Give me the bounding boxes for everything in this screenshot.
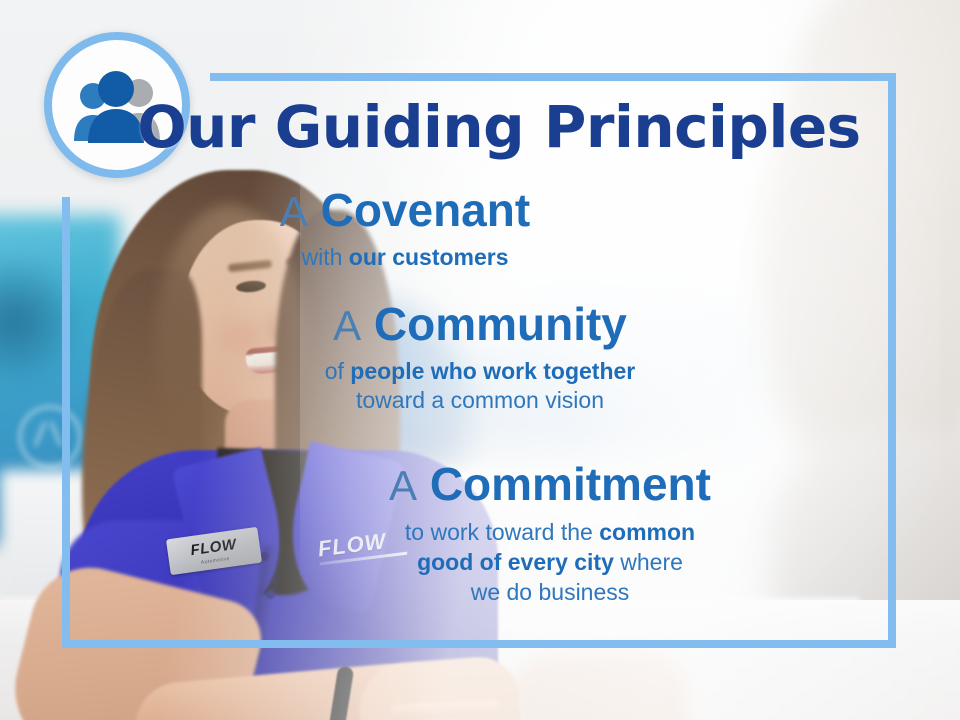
- principle-community-article: A: [333, 302, 361, 349]
- subtext-line: of people who work together: [160, 357, 800, 386]
- principle-commitment-heading: A Commitment: [240, 460, 860, 510]
- subtext-line: toward a common vision: [160, 386, 800, 415]
- guiding-principles-banner: FLOW FLOW Automotive: [0, 0, 960, 720]
- principle-commitment-subtext: to work toward the commongood of every c…: [240, 517, 860, 608]
- subtext-line: we do business: [240, 577, 860, 607]
- subtext-line: to work toward the common: [240, 517, 860, 547]
- principle-covenant-article: A: [280, 188, 308, 235]
- principle-community-subtext: of people who work togethertoward a comm…: [160, 357, 800, 416]
- subtext-line: with our customers: [110, 243, 700, 272]
- principle-covenant-subtext: with our customers: [110, 243, 700, 272]
- page-title: Our Guiding Principles: [0, 98, 960, 156]
- principle-commitment-word: Commitment: [430, 458, 711, 510]
- principle-covenant: A Covenant with our customers: [110, 186, 700, 272]
- principle-community-word: Community: [374, 298, 627, 350]
- customer-hand: [505, 650, 685, 720]
- principle-covenant-heading: A Covenant: [110, 186, 700, 236]
- subtext-line: good of every city where: [240, 547, 860, 577]
- principle-covenant-word: Covenant: [321, 184, 531, 236]
- principle-community: A Community of people who work togethert…: [160, 300, 800, 416]
- principle-community-heading: A Community: [160, 300, 800, 350]
- principle-commitment: A Commitment to work toward the commongo…: [240, 460, 860, 608]
- principle-commitment-article: A: [389, 462, 417, 509]
